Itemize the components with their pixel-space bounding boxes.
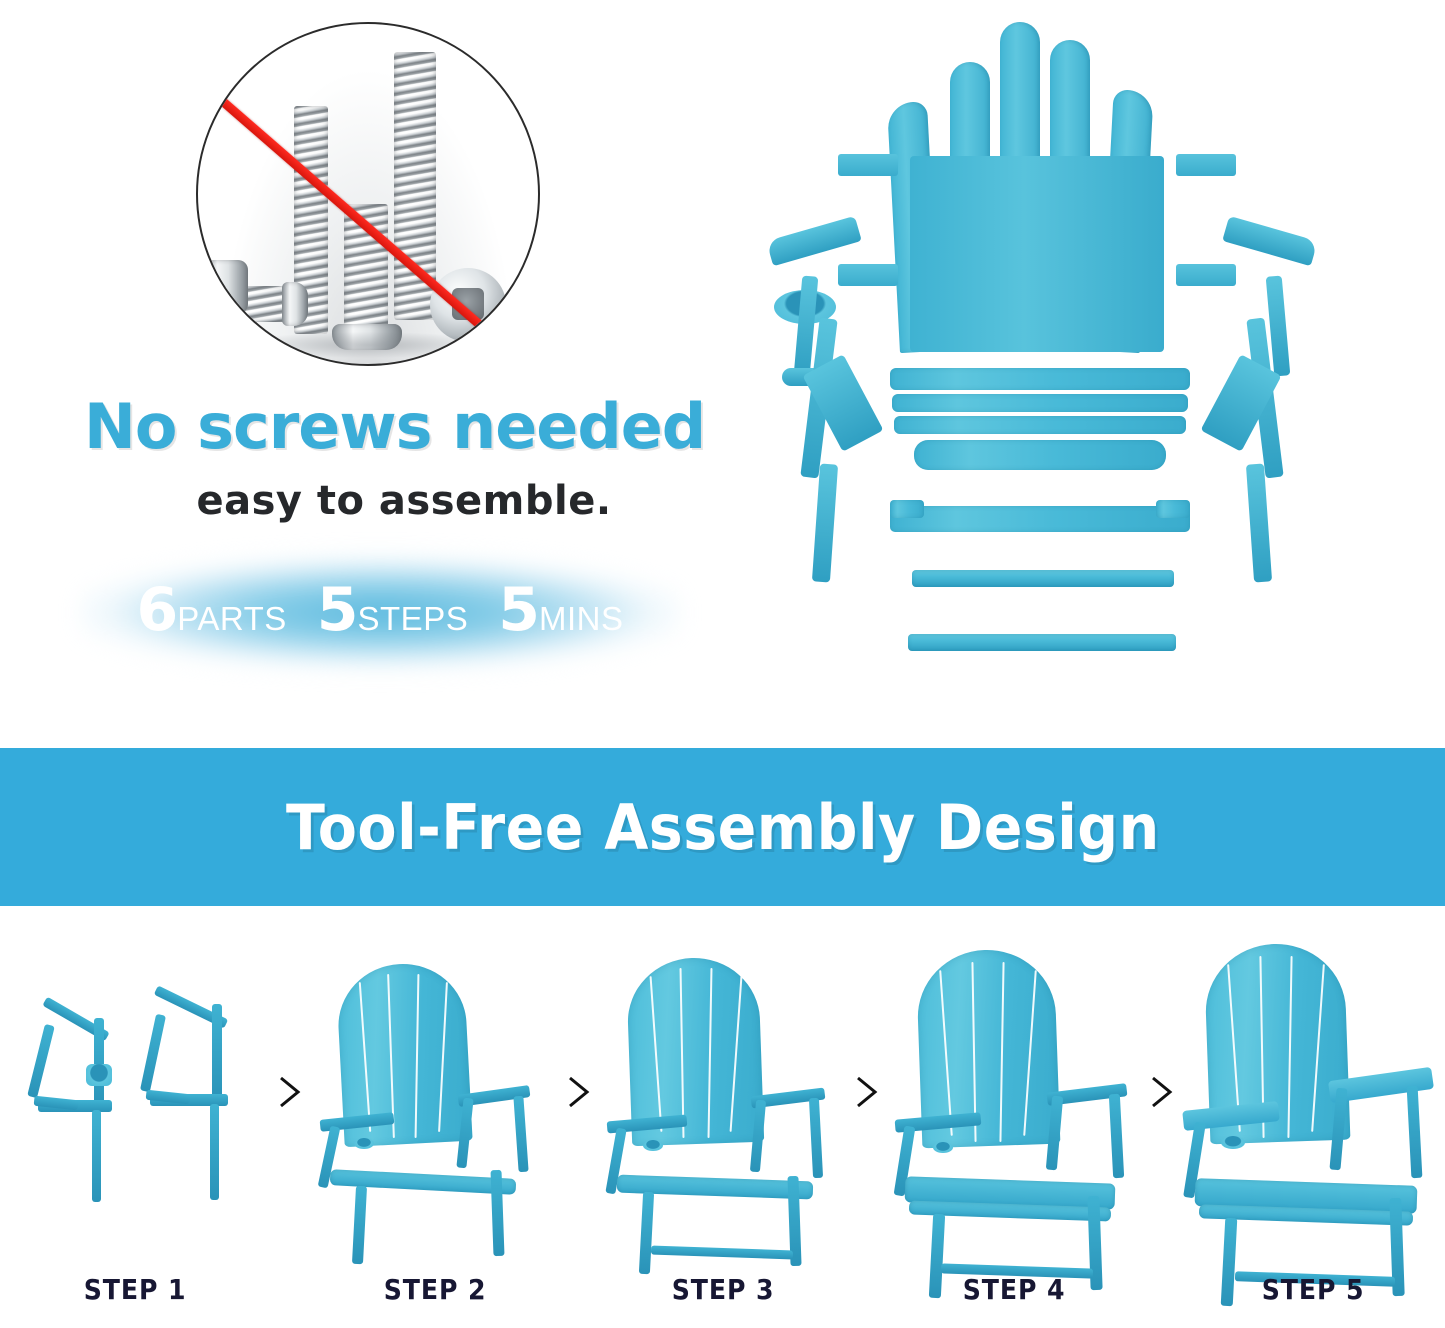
stat-parts-number: 6 [137,580,178,640]
stat-parts-unit: PARTS [177,600,286,638]
step-separator-1 [271,930,311,1328]
stat-steps-number: 5 [317,580,358,640]
stat-parts: 6 PARTS [137,580,287,640]
part-right-side-frame [1202,228,1322,588]
assembly-step-2: STEP 2 [310,930,559,1328]
part-support-rail [912,570,1174,587]
step-5-illustration [1181,930,1445,1273]
stat-mins-unit: MINS [539,600,624,638]
part-seat-slats [890,368,1190,478]
stat-mins: 5 MINS [498,580,623,640]
exploded-chair-parts [762,0,1322,700]
assembly-step-5: STEP 5 [1181,930,1445,1328]
step-separator-2 [559,930,599,1328]
banner-title: Tool-Free Assembly Design [286,791,1160,864]
section-banner: Tool-Free Assembly Design [0,748,1445,906]
chevron-right-icon [566,1075,592,1109]
product-infographic: No screws needed easy to assemble. 6 PAR… [0,0,1445,1328]
part-support-rail [908,634,1176,651]
step-separator-4 [1142,930,1182,1328]
step-5-label: STEP 5 [1262,1273,1365,1328]
page-title: No screws needed [84,396,724,458]
assembly-steps: STEP 1 [0,930,1445,1328]
step-3-illustration [599,930,848,1273]
bolt-head [204,260,248,314]
chevron-right-icon [1149,1075,1175,1109]
stat-mins-number: 5 [498,580,539,640]
chevron-right-icon [277,1075,303,1109]
step-4-illustration [887,930,1142,1273]
stat-steps-unit: STEPS [358,600,469,638]
step-1-illustration [0,930,271,1273]
step-2-label: STEP 2 [383,1273,486,1328]
part-left-side-frame [762,228,882,588]
step-3-label: STEP 3 [672,1273,775,1328]
step-separator-3 [847,930,887,1328]
photo-shadow [239,332,497,358]
assembly-step-4: STEP 4 [887,930,1142,1328]
step-4-label: STEP 4 [963,1273,1066,1328]
stats-badge: 6 PARTS 5 STEPS 5 MINS [80,548,680,672]
screws-photo [196,22,540,366]
page-subtitle: easy to assemble. [84,478,724,524]
assembly-step-1: STEP 1 [0,930,271,1328]
step-1-label: STEP 1 [84,1273,187,1328]
part-backrest [892,2,1182,352]
step-2-illustration [310,930,559,1273]
stat-steps: 5 STEPS [317,580,468,640]
chevron-right-icon [854,1075,880,1109]
bolt-tip [282,282,308,326]
assembly-step-3: STEP 3 [599,930,848,1328]
part-front-crossbar [890,500,1190,540]
